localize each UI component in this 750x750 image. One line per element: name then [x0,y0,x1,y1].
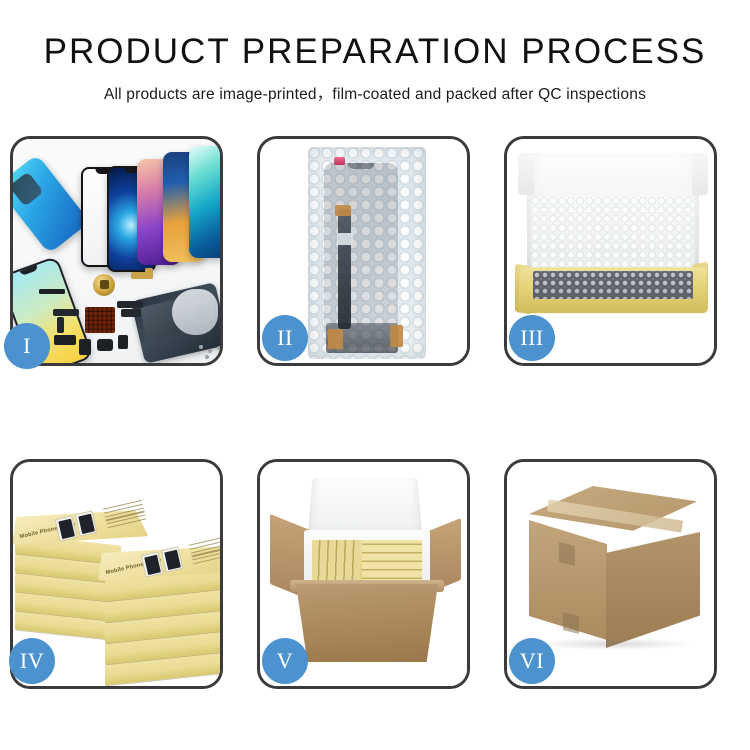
taptic-part-icon [97,339,113,351]
lcd-connector-icon-2 [328,329,343,349]
speaker-part-icon [39,289,65,294]
flex-cable-icon-4 [121,309,141,317]
bubble-wrapped-content-icon [533,271,693,299]
bubble-wrap-bag-icon [308,147,426,359]
process-step-5: V [257,459,470,689]
carton-shadow [533,638,695,650]
lcd-ic-chip-icon [337,233,353,245]
sim-tray-part-icon [79,339,91,355]
foam-padding-icon [531,197,695,273]
screws-icon [199,345,220,359]
header: PRODUCT PREPARATION PROCESS All products… [0,0,750,104]
lcd-connector-icon-3 [390,325,403,347]
step-badge-6: VI [509,638,555,684]
step-badge-4: IV [9,638,55,684]
process-step-2: II [257,136,470,366]
page-title: PRODUCT PREPARATION PROCESS [0,34,750,71]
process-steps-grid: I II [10,136,740,689]
step-1-illustration [13,139,220,363]
process-step-4: Mobile Phone Spare Parts Mobile Phone Sp… [10,459,223,689]
carton-tab-icon-2 [563,612,579,634]
carton-tab-icon-1 [559,542,575,566]
process-step-6: VI [504,459,717,689]
qc-sticker-icon [334,157,345,165]
product-preparation-infographic: PRODUCT PREPARATION PROCESS All products… [0,0,750,750]
connector-board-icon [85,307,115,333]
step-badge-5: V [262,638,308,684]
step-badge-1: I [4,323,50,369]
phone-back-cover-icon [13,154,90,254]
carton-body-icon [296,584,438,662]
gold-contact-icon-2 [145,268,153,278]
lcd-screen-icon [324,163,398,347]
process-step-3: III [504,136,717,366]
process-step-1: I [10,136,223,366]
flex-cable-icon-1 [53,309,79,316]
flex-cable-icon-2 [57,317,64,333]
button-part-icon [118,335,128,349]
flex-cable-icon-3 [117,301,143,308]
page-subtitle: All products are image-printed，film-coat… [0,82,750,104]
step-badge-2: II [262,315,308,361]
lcd-flex-cable-icon [338,209,351,329]
repair-tool-icon [172,289,218,335]
wireless-coil-icon [93,274,115,296]
camera-part-icon [54,335,76,345]
sealed-carton-right-icon [606,532,700,648]
step-badge-3: III [509,315,555,361]
lcd-connector-icon-1 [335,205,351,216]
phone-display-teal-icon [189,146,220,258]
